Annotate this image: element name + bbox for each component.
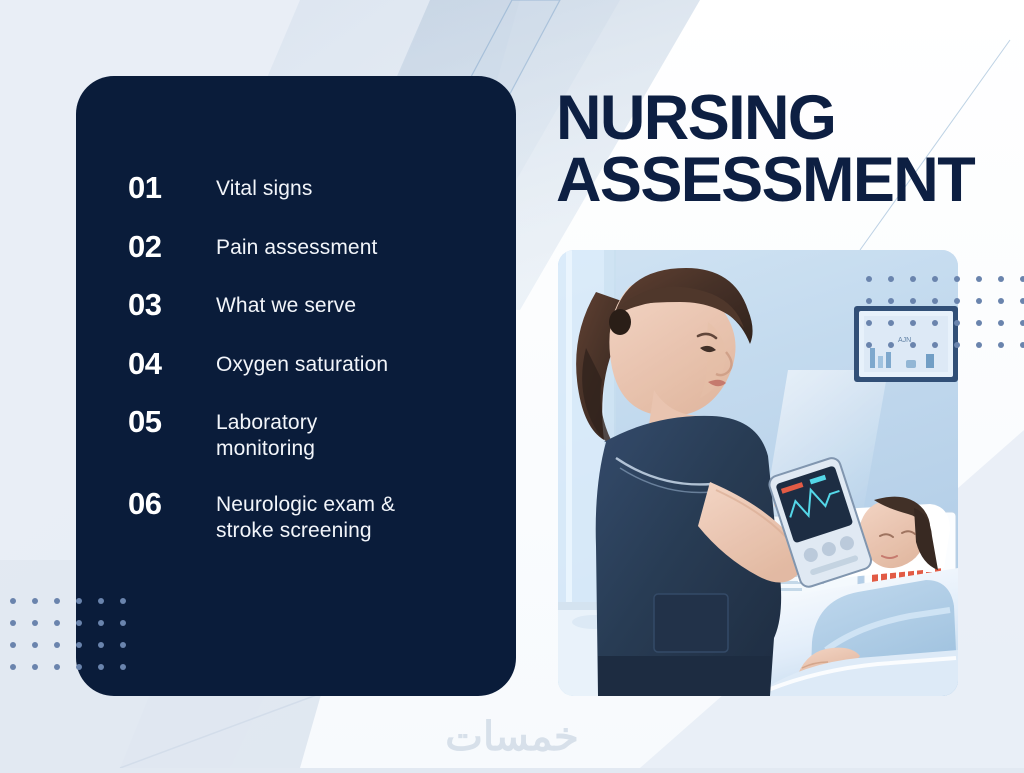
agenda-card: 01 Vital signs 02 Pain assessment 03 Wha… [76, 76, 516, 696]
dot [866, 298, 872, 304]
agenda-list: 01 Vital signs 02 Pain assessment 03 Wha… [76, 76, 516, 696]
watermark: خمسات [0, 714, 1024, 760]
dot [866, 320, 872, 326]
list-item[interactable]: 01 Vital signs [128, 172, 482, 205]
dot [54, 598, 60, 604]
dot [76, 642, 82, 648]
page-title: NURSING ASSESSMENT [556, 88, 1024, 211]
dot [998, 276, 1004, 282]
dot [888, 276, 894, 282]
nurse-patient-illustration: AJN [558, 250, 958, 696]
dot [120, 598, 126, 604]
list-item-number: 01 [128, 172, 216, 205]
dot [932, 276, 938, 282]
dot [1020, 276, 1024, 282]
dot [76, 664, 82, 670]
dot [888, 320, 894, 326]
illustration-svg: AJN [558, 250, 958, 696]
dot [954, 342, 960, 348]
dot [32, 642, 38, 648]
dot [954, 276, 960, 282]
list-item-number: 02 [128, 231, 216, 264]
list-item-number: 05 [128, 406, 216, 439]
dot [1020, 320, 1024, 326]
dot [10, 664, 16, 670]
dot [98, 598, 104, 604]
dot [976, 276, 982, 282]
dot [120, 642, 126, 648]
dot [54, 664, 60, 670]
list-item-label: Vital signs [216, 172, 312, 202]
list-item-label: Pain assessment [216, 231, 377, 261]
list-item-label: What we serve [216, 289, 356, 319]
list-item[interactable]: 02 Pain assessment [128, 231, 482, 264]
dot [98, 642, 104, 648]
dot [998, 298, 1004, 304]
dot [76, 598, 82, 604]
dot [120, 664, 126, 670]
dot [976, 320, 982, 326]
dot [888, 298, 894, 304]
dot [888, 342, 894, 348]
list-item[interactable]: 05 Laboratory monitoring [128, 406, 482, 462]
dot [32, 664, 38, 670]
list-item-label: Oxygen saturation [216, 348, 388, 378]
list-item-number: 06 [128, 488, 216, 521]
dot [1020, 342, 1024, 348]
dot [998, 342, 1004, 348]
dot [866, 276, 872, 282]
dot [98, 664, 104, 670]
title-line-2: ASSESSMENT [556, 150, 1024, 212]
dot [932, 342, 938, 348]
dot [910, 298, 916, 304]
dot [54, 642, 60, 648]
list-item-number: 04 [128, 348, 216, 381]
dot [998, 320, 1004, 326]
dot [10, 642, 16, 648]
dot [32, 620, 38, 626]
title-line-1: NURSING [556, 88, 1024, 150]
list-item[interactable]: 03 What we serve [128, 289, 482, 322]
dot [976, 342, 982, 348]
dot [10, 620, 16, 626]
dot [932, 320, 938, 326]
list-item[interactable]: 06 Neurologic exam & stroke screening [128, 488, 482, 544]
list-item[interactable]: 04 Oxygen saturation [128, 348, 482, 381]
list-item-label: Neurologic exam & stroke screening [216, 488, 396, 544]
dot [954, 320, 960, 326]
list-item-label: Laboratory monitoring [216, 406, 366, 462]
dot [10, 598, 16, 604]
dot [976, 298, 982, 304]
dot [1020, 298, 1024, 304]
dot [76, 620, 82, 626]
dot [910, 276, 916, 282]
list-item-number: 03 [128, 289, 216, 322]
dot [32, 598, 38, 604]
dot [954, 298, 960, 304]
dot [910, 320, 916, 326]
dot [120, 620, 126, 626]
dot [54, 620, 60, 626]
dot [910, 342, 916, 348]
dot [98, 620, 104, 626]
dot [866, 342, 872, 348]
dot [932, 298, 938, 304]
